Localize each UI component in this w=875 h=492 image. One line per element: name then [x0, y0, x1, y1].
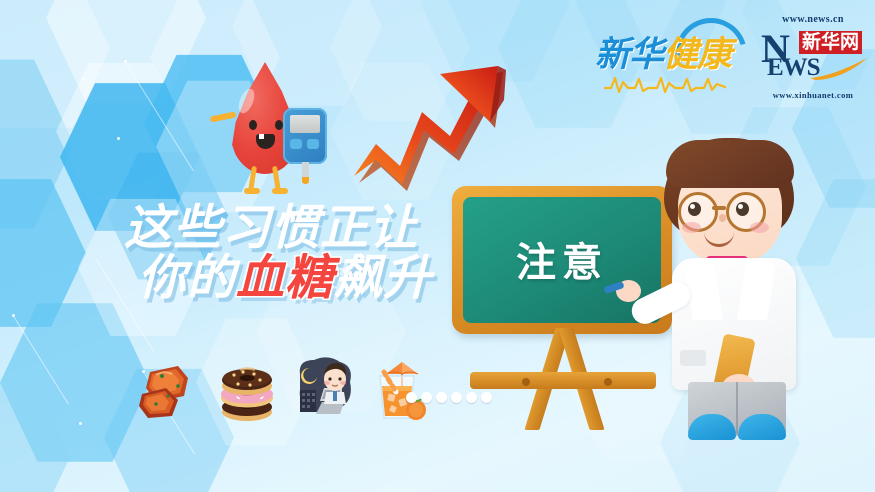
doctor-coat-pocket — [680, 350, 706, 366]
ellipsis-dot — [466, 392, 477, 403]
meter-strip-tip — [302, 177, 309, 184]
title-highlight-blood-sugar: 血糖 — [236, 252, 334, 305]
title-line2-suffix: 飙升 — [334, 252, 432, 305]
meter-button-left — [290, 139, 302, 149]
meter-button-right — [307, 139, 319, 149]
ellipsis-dots — [406, 392, 492, 403]
meter-screen — [290, 115, 320, 133]
orange-swoosh-icon — [809, 57, 869, 81]
title-line-1: 这些习惯正让 — [124, 204, 484, 254]
title-line2-prefix: 你的 — [138, 252, 236, 305]
mascot-right-foot — [272, 188, 288, 194]
mascot-left-foot — [244, 188, 260, 194]
braised-pork-icon — [138, 356, 200, 422]
rising-trend-arrow-icon — [348, 48, 513, 198]
doctor-hair-fringe — [666, 140, 794, 188]
doctor-nose — [719, 214, 726, 222]
doctor-right-eye-shine — [738, 204, 743, 209]
donuts-icon — [216, 356, 278, 422]
easel-bolt-left — [522, 378, 530, 386]
mascot-tooth — [259, 134, 264, 139]
staying-up-late-icon — [294, 356, 356, 422]
ellipsis-dot — [436, 392, 447, 403]
xinhuanet-logo[interactable]: www.news.cn N EWS 新华网 www.xinhuanet.com — [759, 14, 867, 100]
page-title: 这些习惯正让 你的血糖飙升 — [124, 204, 484, 304]
mascot-right-eye — [275, 120, 283, 130]
doctor-left-blush — [682, 222, 701, 233]
poster-canvas: 新华健康 www.news.cn N EWS 新华网 www.xinhuanet… — [0, 0, 875, 492]
xinhua-top-url: www.news.cn — [782, 14, 844, 25]
doctor-left-eye-shine — [690, 204, 695, 209]
doctor-pants-seam — [736, 382, 738, 434]
title-line-2: 你的血糖飙升 — [138, 254, 484, 304]
ellipsis-dot — [406, 392, 417, 403]
ellipsis-dot — [481, 392, 492, 403]
doctor-right-blush — [750, 222, 769, 233]
xinhua-health-logo[interactable]: 新华健康 — [593, 14, 753, 100]
glucose-meter-icon — [283, 108, 327, 180]
heartbeat-line-icon — [603, 72, 728, 96]
habit-icon-row — [138, 356, 468, 426]
sugary-juice-icon — [366, 356, 428, 422]
health-logo-text-blue: 新华 — [595, 35, 663, 74]
xinhua-bottom-url: www.xinhuanet.com — [773, 90, 853, 100]
health-logo-text-yellow: 健康 — [663, 35, 731, 74]
xinhua-red-badge: 新华网 — [799, 31, 862, 55]
easel-bolt-right — [604, 378, 612, 386]
mascot-left-eye — [249, 120, 257, 130]
mascot-left-arm — [210, 111, 237, 122]
doctor-glasses-bridge — [712, 206, 726, 210]
brand-logos: 新华健康 www.news.cn N EWS 新华网 www.xinhuanet… — [593, 14, 867, 100]
doctor-character — [626, 138, 841, 438]
ellipsis-dot — [451, 392, 462, 403]
ellipsis-dot — [421, 392, 432, 403]
